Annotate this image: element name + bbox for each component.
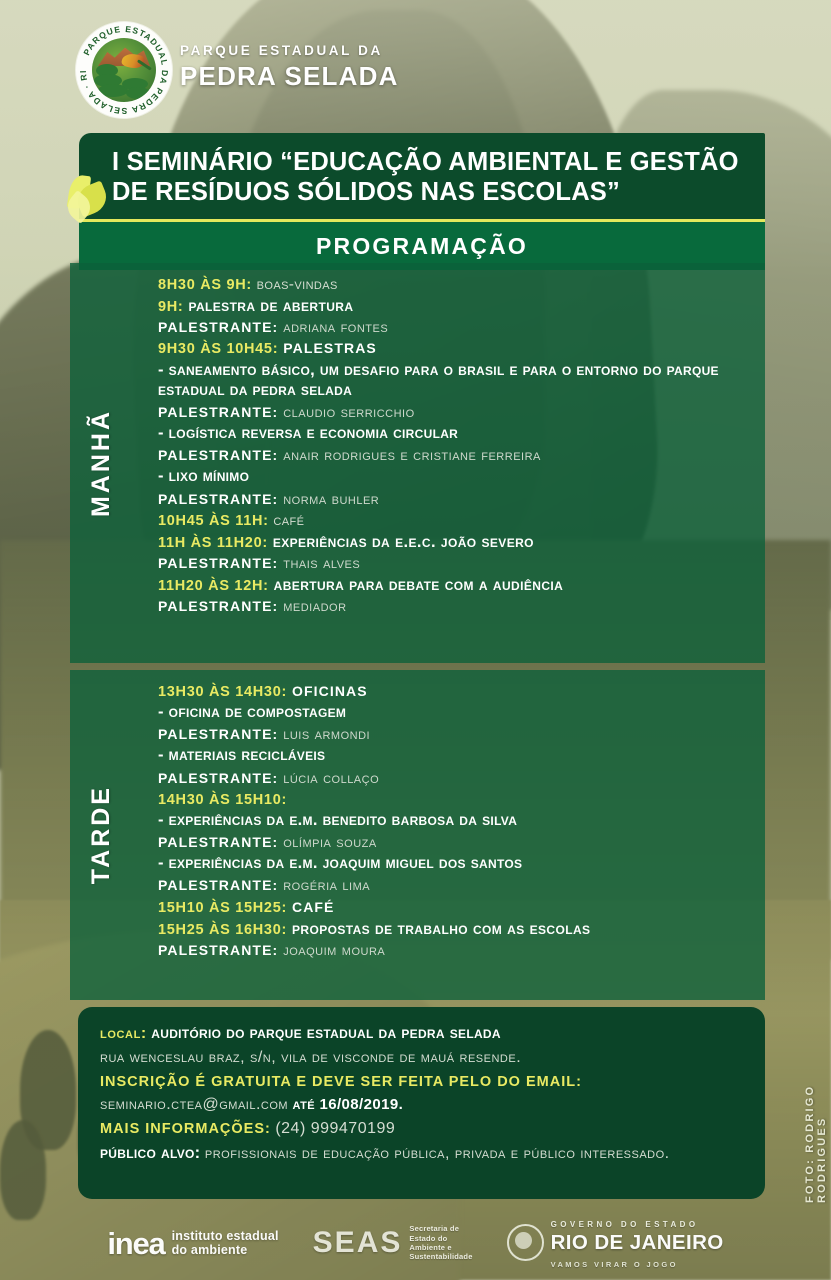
info-inscricao-line: INSCRIÇÃO É GRATUITA E DEVE SER FEITA PE… [100,1072,743,1093]
info-email-deadline: até 16/08/2019. [293,1096,404,1113]
speaker-label: palestrante: [158,834,278,850]
inea-wordmark: inea [107,1228,164,1259]
afternoon-rows: 13h30 às 14h30: oficinas- Oficina de com… [158,682,751,962]
morning-vertical-label: MANHÃ [70,263,132,663]
schedule-item-text: - Saneamento básico, um desafio para o B… [158,361,719,399]
speaker-name: Thais Alves [278,555,360,572]
info-phone[interactable]: (24) 999470199 [275,1120,395,1137]
schedule-speaker-row: palestrante: Norma buhler [158,490,751,510]
schedule-speaker-row: palestrante: Luis Armondi [158,725,751,745]
speaker-name: Olímpia Souza [278,834,376,851]
schedule-speaker-row: palestrante: Adriana Fontes [158,318,751,338]
schedule-time-row: 10h45 às 11h: café [158,511,751,531]
morning-label-text: MANHÃ [87,409,116,517]
footer-logos: inea instituto estadual do ambiente SEAS… [0,1212,831,1274]
speaker-name: Anair Rodrigues e Cristiane Ferreira [278,447,541,464]
schedule-item-row: - Materiais Recicláveis [158,746,751,766]
seas-subtitle: Secretaria de Estado do Ambiente e Suste… [409,1224,472,1262]
schedule-panel-afternoon: TARDE 13h30 às 14h30: oficinas- Oficina … [70,670,765,1000]
tree-icon [126,87,150,99]
schedule-time: 14h30 às 15h10: [158,792,287,808]
schedule-panel-morning: MANHÃ 8h30 às 9h: boas-vindas9h: Palestr… [70,263,765,663]
programacao-label: PROGRAMAÇÃO [316,233,528,260]
schedule-time-row: 11h às 11h20: Experiências da E.E.C. Joã… [158,532,751,553]
schedule-speaker-row: palestrante: Anair Rodrigues e Cristiane… [158,446,751,466]
schedule-title: Abertura para debate com a audiência [269,576,564,594]
government-seal-icon [507,1224,544,1261]
speaker-name: Joaquim Moura [278,942,385,959]
info-publico-key: Público Alvo: [100,1144,200,1162]
info-email-line: seminario.ctea@gmail.com até 16/08/2019. [100,1095,743,1116]
info-block: Local: Auditório do Parque Estadual da P… [78,1007,765,1199]
photo-credit: FOTO: RODRIGO RODRIGUES [805,1013,827,1203]
info-email[interactable]: seminario.ctea@gmail.com [100,1096,288,1113]
poster-header: PARQUE ESTADUAL DA PEDRA SELADA · RIO DE… [0,0,831,120]
schedule-speaker-row: palestrante: Rogéria Lima [158,876,751,896]
seas-subtitle-line-4: Sustentabilidade [409,1252,472,1261]
speaker-name: Luis Armondi [278,726,370,743]
info-contact-line: MAIS INFORMAÇÕES: (24) 999470199 [100,1119,743,1140]
schedule-time-row: 14h30 às 15h10: [158,790,751,810]
governo-sub-line: VAMOS VIRAR O JOGO [551,1260,678,1269]
schedule-time-row: 9h: Palestra de Abertura [158,296,751,317]
afternoon-vertical-label: TARDE [70,670,132,1000]
info-local-line: Local: Auditório do Parque Estadual da P… [100,1023,743,1045]
governo-wordmark: GOVERNO DO ESTADO RIO DE JANEIRO VAMOS V… [551,1214,724,1273]
schedule-title: Propostas de Trabalho com as Escolas [287,920,590,938]
speaker-name: Lúcia Collaço [278,770,379,787]
schedule-time: 9h: [158,299,183,315]
governo-main-line: RIO DE JANEIRO [551,1231,724,1254]
seas-subtitle-line-1: Secretaria de [409,1224,459,1233]
schedule-speaker-row: palestrante: Olímpia Souza [158,833,751,853]
info-address-line: Rua Wenceslau Braz, s/n, Vila de Viscond… [100,1048,743,1069]
schedule-speaker-row: palestrante: Lúcia Collaço [158,769,751,789]
speaker-name: Rogéria Lima [278,877,370,894]
photo-credit-text: FOTO: RODRIGO RODRIGUES [804,1013,828,1203]
seminar-title-line-2: DE RESÍDUOS SÓLIDOS NAS ESCOLAS” [112,177,749,207]
info-contact-key: MAIS INFORMAÇÕES: [100,1121,271,1137]
governo-top-line: GOVERNO DO ESTADO [551,1220,699,1229]
speaker-label: palestrante: [158,598,278,614]
schedule-time: 9h30 às 10h45: [158,341,278,357]
brand-wordmark: PARQUE ESTADUAL DA PEDRA SELADA [180,44,399,89]
schedule-time: 15h10 às 15h25: [158,900,287,916]
seas-wordmark: SEAS [313,1228,403,1258]
info-inscricao-key: INSCRIÇÃO É GRATUITA E DEVE SER FEITA PE… [100,1074,582,1090]
schedule-item-row: - Saneamento básico, um desafio para o B… [158,361,751,401]
schedule-title: Palestra de Abertura [183,297,353,315]
speaker-name: Mediador [278,598,346,615]
park-logo-badge: PARQUE ESTADUAL DA PEDRA SELADA · RIO DE… [76,22,172,118]
schedule-item-row: - Logística Reversa e Economia Circular [158,424,751,444]
schedule-time: 11h20 às 12h: [158,578,269,594]
schedule-item-text: - Experiências da E.M. Joaquim Miguel do… [158,854,522,872]
inea-subtitle-line-2: do ambiente [172,1243,248,1257]
speaker-name: Adriana Fontes [278,319,388,336]
schedule-item-text: - Logística Reversa e Economia Circular [158,424,458,442]
info-publico-value: Profissionais de Educação Pública, Priva… [205,1145,670,1162]
inea-subtitle-line-1: instituto estadual [172,1229,279,1243]
speaker-name: Norma buhler [278,491,379,508]
schedule-title: café [287,899,335,915]
schedule-item-text: - Oficina de compostagem [158,703,346,721]
schedule-item-row: - Experiências da E.M. Benedito Barbosa … [158,811,751,831]
governo-rj-logo: GOVERNO DO ESTADO RIO DE JANEIRO VAMOS V… [507,1214,724,1273]
inea-subtitle: instituto estadual do ambiente [172,1229,279,1257]
schedule-time: 13h30 às 14h30: [158,684,287,700]
afternoon-label-text: TARDE [87,785,116,884]
schedule-item-row: - Oficina de compostagem [158,703,751,723]
speaker-label: palestrante: [158,877,278,893]
speaker-label: palestrante: [158,770,278,786]
speaker-label: palestrante: [158,726,278,742]
info-local-key: Local: [100,1025,147,1042]
schedule-item-text: - Experiências da E.M. Benedito Barbosa … [158,811,517,829]
leaf-icon [65,175,111,223]
schedule-speaker-row: palestrante: Thais Alves [158,554,751,574]
schedule-title: Experiências da E.E.C. João Severo [268,533,534,551]
schedule-speaker-row: palestrante: Joaquim Moura [158,941,751,961]
info-address: Rua Wenceslau Braz, s/n, Vila de Viscond… [100,1049,521,1066]
poster-root: PARQUE ESTADUAL DA PEDRA SELADA · RIO DE… [0,0,831,1280]
speaker-label: palestrante: [158,447,278,463]
speaker-name: Claudio Serricchio [278,404,414,421]
morning-rows: 8h30 às 9h: boas-vindas9h: Palestra de A… [158,275,751,619]
inea-logo: inea instituto estadual do ambiente [107,1228,278,1259]
schedule-title: boas-vindas [252,276,338,293]
title-block: I SEMINÁRIO “EDUCAÇÃO AMBIENTAL E GESTÃO… [79,133,765,270]
schedule-title: palestras [278,340,377,356]
speaker-label: palestrante: [158,404,278,420]
logo-emblem [92,38,156,102]
schedule-time-row: 13h30 às 14h30: oficinas [158,682,751,702]
schedule-time-row: 9h30 às 10h45: palestras [158,339,751,359]
schedule-time-row: 15h25 às 16h30: Propostas de Trabalho co… [158,919,751,940]
info-local-value: Auditório do Parque Estadual da Pedra Se… [151,1024,501,1042]
schedule-title: café [269,512,305,529]
seas-subtitle-line-2: Estado do [409,1234,447,1243]
brand-line-1: PARQUE ESTADUAL DA [180,44,399,58]
schedule-item-row: - Experiências da E.M. Joaquim Miguel do… [158,854,751,874]
speaker-label: palestrante: [158,555,278,571]
schedule-time: 8h30 às 9h: [158,277,252,293]
schedule-item-row: - Lixo Mínimo [158,467,751,487]
speaker-label: palestrante: [158,319,278,335]
schedule-time: 11h às 11h20: [158,535,268,551]
seas-logo: SEAS Secretaria de Estado do Ambiente e … [313,1224,473,1262]
speaker-label: palestrante: [158,942,278,958]
schedule-item-text: - Lixo Mínimo [158,467,249,485]
schedule-item-text: - Materiais Recicláveis [158,746,325,764]
seminar-title: I SEMINÁRIO “EDUCAÇÃO AMBIENTAL E GESTÃO… [79,133,765,219]
schedule-time: 10h45 às 11h: [158,513,269,529]
schedule-speaker-row: palestrante: Mediador [158,597,751,617]
info-publico-line: Público Alvo: Profissionais de Educação … [100,1143,743,1165]
schedule-time-row: 11h20 às 12h: Abertura para debate com a… [158,575,751,596]
seminar-title-line-1: I SEMINÁRIO “EDUCAÇÃO AMBIENTAL E GESTÃO [112,147,749,177]
seas-subtitle-line-3: Ambiente e [409,1243,451,1252]
brand-line-2: PEDRA SELADA [180,63,399,89]
speaker-label: palestrante: [158,491,278,507]
schedule-time-row: 15h10 às 15h25: café [158,898,751,918]
schedule-time: 15h25 às 16h30: [158,922,287,938]
schedule-title: oficinas [287,683,368,699]
schedule-speaker-row: palestrante: Claudio Serricchio [158,403,751,423]
schedule-time-row: 8h30 às 9h: boas-vindas [158,275,751,295]
